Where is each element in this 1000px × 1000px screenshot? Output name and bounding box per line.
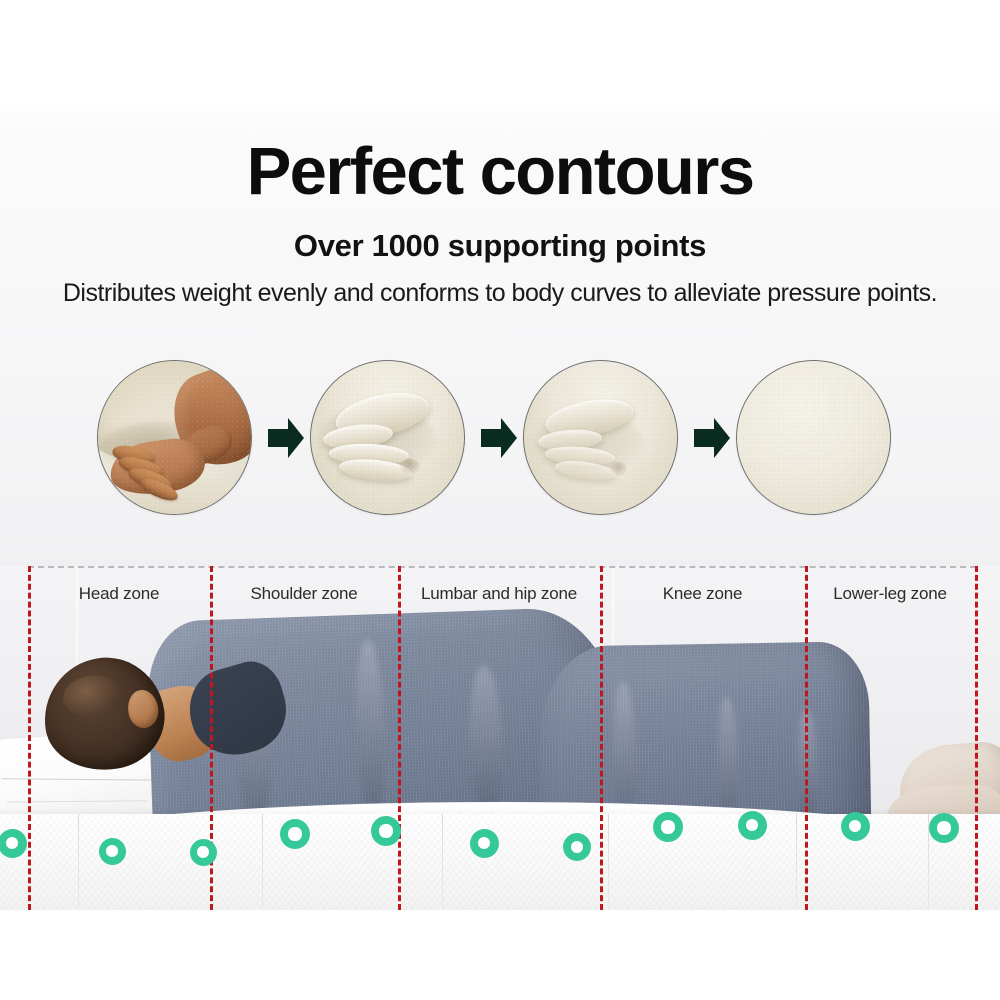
foam-step-imprint — [310, 360, 465, 515]
arrow-right-icon — [692, 415, 732, 461]
zone-top-border — [28, 566, 976, 568]
marker-center — [661, 820, 674, 833]
foam-step-recovering — [523, 360, 678, 515]
marker-center — [849, 820, 862, 833]
foam-recovery-sequence — [0, 355, 1000, 520]
zone-label-2: Lumbar and hip zone — [398, 584, 600, 608]
support-point-marker-6 — [563, 833, 591, 861]
foam-step-smooth — [736, 360, 891, 515]
background-top-band — [0, 0, 1000, 106]
marker-center — [478, 837, 491, 850]
marker-center — [197, 846, 209, 858]
support-point-marker-7 — [653, 812, 683, 842]
foam-grain-texture — [311, 361, 464, 514]
foam-step-pressing — [97, 360, 252, 515]
support-point-marker-0 — [0, 829, 27, 858]
zone-label-4: Lower-leg zone — [805, 584, 975, 608]
marker-center — [937, 821, 950, 834]
support-point-marker-5 — [470, 829, 499, 858]
marker-center — [746, 819, 759, 832]
page-subtitle: Over 1000 supporting points — [0, 228, 1000, 264]
arrow-right-icon — [266, 415, 306, 461]
arrow-right-icon — [479, 415, 519, 461]
background-bottom-band — [0, 909, 1000, 1000]
foam-grain-texture — [737, 361, 890, 514]
page-title: Perfect contours — [0, 138, 1000, 205]
zone-divider — [975, 566, 978, 910]
marker-center — [571, 841, 583, 853]
support-point-marker-9 — [841, 812, 870, 841]
zone-label-1: Shoulder zone — [210, 584, 398, 608]
marker-center — [6, 837, 19, 850]
zone-divider — [28, 566, 31, 910]
zone-divider — [600, 566, 603, 910]
zone-divider — [805, 566, 808, 910]
support-point-marker-2 — [190, 839, 217, 866]
zone-label-3: Knee zone — [600, 584, 805, 608]
page-description: Distributes weight evenly and conforms t… — [0, 279, 1000, 308]
foam-grain-texture — [524, 361, 677, 514]
zone-label-0: Head zone — [28, 584, 210, 608]
marker-center — [288, 827, 301, 840]
support-point-marker-8 — [738, 811, 767, 840]
marker-center — [106, 845, 118, 857]
foam-grain-texture — [98, 361, 251, 514]
marker-center — [379, 824, 392, 837]
support-point-marker-10 — [929, 813, 959, 843]
support-point-marker-1 — [99, 838, 126, 865]
body-zone-overlay: Head zoneShoulder zoneLumbar and hip zon… — [28, 566, 976, 910]
infographic-stage: Perfect contours Over 1000 supporting po… — [0, 0, 1000, 1000]
zone-divider — [398, 566, 401, 910]
support-point-marker-3 — [280, 819, 310, 849]
support-point-marker-4 — [371, 816, 401, 846]
